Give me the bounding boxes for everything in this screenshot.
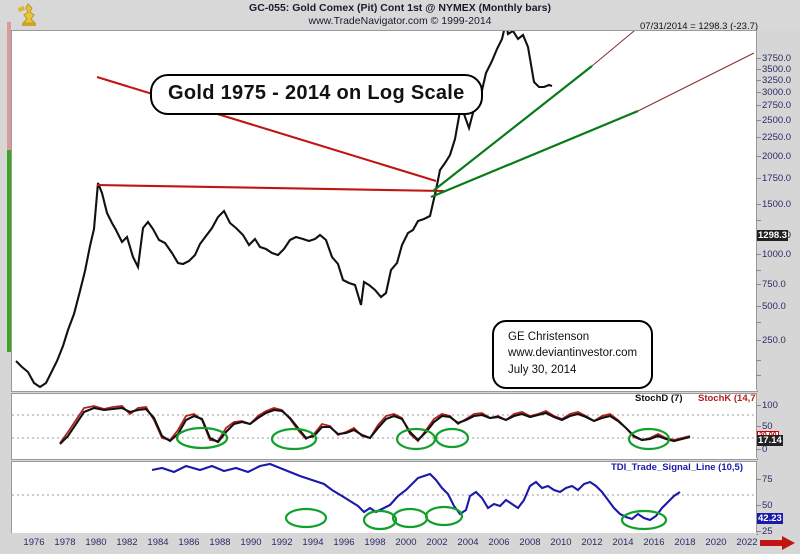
tdi-circle-marker (286, 509, 326, 527)
x-tick-label: 1984 (147, 537, 168, 548)
credit-author: GE Christenson (508, 329, 637, 345)
price-tick-label: 3500.0 (762, 64, 791, 75)
x-tick-label: 1980 (85, 537, 106, 548)
x-tick-label: 1998 (364, 537, 385, 548)
x-tick-label: 1990 (240, 537, 261, 548)
credit-date: July 30, 2014 (508, 362, 637, 378)
stoch-d-legend: StochD (7) (635, 393, 683, 404)
tdi-value-tag: 42.23 (757, 513, 783, 524)
price-tick-label: 1000.0 (762, 249, 791, 260)
x-tick-label: 1976 (23, 537, 44, 548)
x-tick-label: 2002 (426, 537, 447, 548)
x-tick-label: 2004 (457, 537, 478, 548)
x-tick-label: 2022 (736, 537, 757, 548)
lower-extension-line (638, 53, 754, 111)
tdi-axis: 75 50 25 42.23 (756, 461, 800, 533)
price-axis: 3750.0 3500.0 3250.0 3000.0 2750.0 2500.… (756, 30, 800, 390)
x-tick-label: 2016 (643, 537, 664, 548)
stoch-d-series (60, 408, 690, 444)
price-tick-label: 2250.0 (762, 132, 791, 143)
price-tick-label: 3000.0 (762, 87, 791, 98)
stoch-circle-marker (272, 429, 316, 449)
price-tick-label: 750.0 (762, 279, 786, 290)
x-tick-label: 2020 (705, 537, 726, 548)
title-callout-text: Gold 1975 - 2014 on Log Scale (168, 82, 465, 105)
red-right-arrow-icon (760, 536, 796, 550)
x-tick-label: 2014 (612, 537, 633, 548)
x-tick-label: 2008 (519, 537, 540, 548)
tdi-circle-marker (426, 507, 462, 525)
tdi-circle-marker (393, 509, 427, 527)
credit-callout-box: GE Christenson www.deviantinvestor.com J… (492, 320, 653, 389)
tdi-tick-label: 75 (762, 474, 773, 485)
stoch-d-value-tag: 17.14 (757, 435, 783, 446)
x-tick-label: 1996 (333, 537, 354, 548)
title-callout-box: Gold 1975 - 2014 on Log Scale (150, 74, 483, 115)
stochastic-axis: 100 50 0 20.00 17.14 (756, 393, 800, 458)
tdi-circle-marker (364, 511, 396, 529)
price-tick-label: 2000.0 (762, 151, 791, 162)
x-tick-label: 1978 (54, 537, 75, 548)
price-tick-label: 1750.0 (762, 173, 791, 184)
x-tick-label: 2012 (581, 537, 602, 548)
stoch-tick-label: 100 (762, 400, 778, 411)
upper-extension-line (592, 31, 754, 66)
x-tick-label: 1994 (302, 537, 323, 548)
x-tick-label: 1988 (209, 537, 230, 548)
price-tick-label: 3750.0 (762, 53, 791, 64)
x-tick-label: 1992 (271, 537, 292, 548)
tdi-circle-marker (622, 511, 666, 529)
stoch-k-legend: StochK (14,7) (698, 393, 759, 404)
tdi-legend: TDI_Trade_Signal_Line (10,5) (611, 462, 743, 473)
credit-website: www.deviantinvestor.com (508, 345, 637, 361)
x-tick-label: 2006 (488, 537, 509, 548)
price-axis-line (756, 30, 757, 390)
x-tick-label: 2018 (674, 537, 695, 548)
chart-title: GC-055: Gold Comex (Pit) Cont 1st @ NYME… (0, 2, 800, 14)
tdi-tick-label: 50 (762, 500, 773, 511)
channel-lower-line (431, 111, 638, 197)
x-tick-label: 1986 (178, 537, 199, 548)
x-tick-label: 2010 (550, 537, 571, 548)
stoch-k-series (60, 406, 690, 443)
tdi-series (152, 464, 680, 520)
chart-application: GC-055: Gold Comex (Pit) Cont 1st @ NYME… (0, 0, 800, 554)
price-tick-label: 500.0 (762, 301, 786, 312)
price-tick-label: 250.0 (762, 335, 786, 346)
horizontal-support-line (97, 185, 444, 191)
x-tick-label: 2000 (395, 537, 416, 548)
price-tick-label: 2500.0 (762, 115, 791, 126)
price-tick-label: 1500.0 (762, 199, 791, 210)
price-tick-label: 3250.0 (762, 75, 791, 86)
x-tick-label: 1982 (116, 537, 137, 548)
price-tick-label: 2750.0 (762, 100, 791, 111)
x-axis: 1976 1978 1980 1982 1984 1986 1988 1990 … (11, 533, 756, 554)
current-price-tag: 1298.3 (757, 230, 788, 241)
